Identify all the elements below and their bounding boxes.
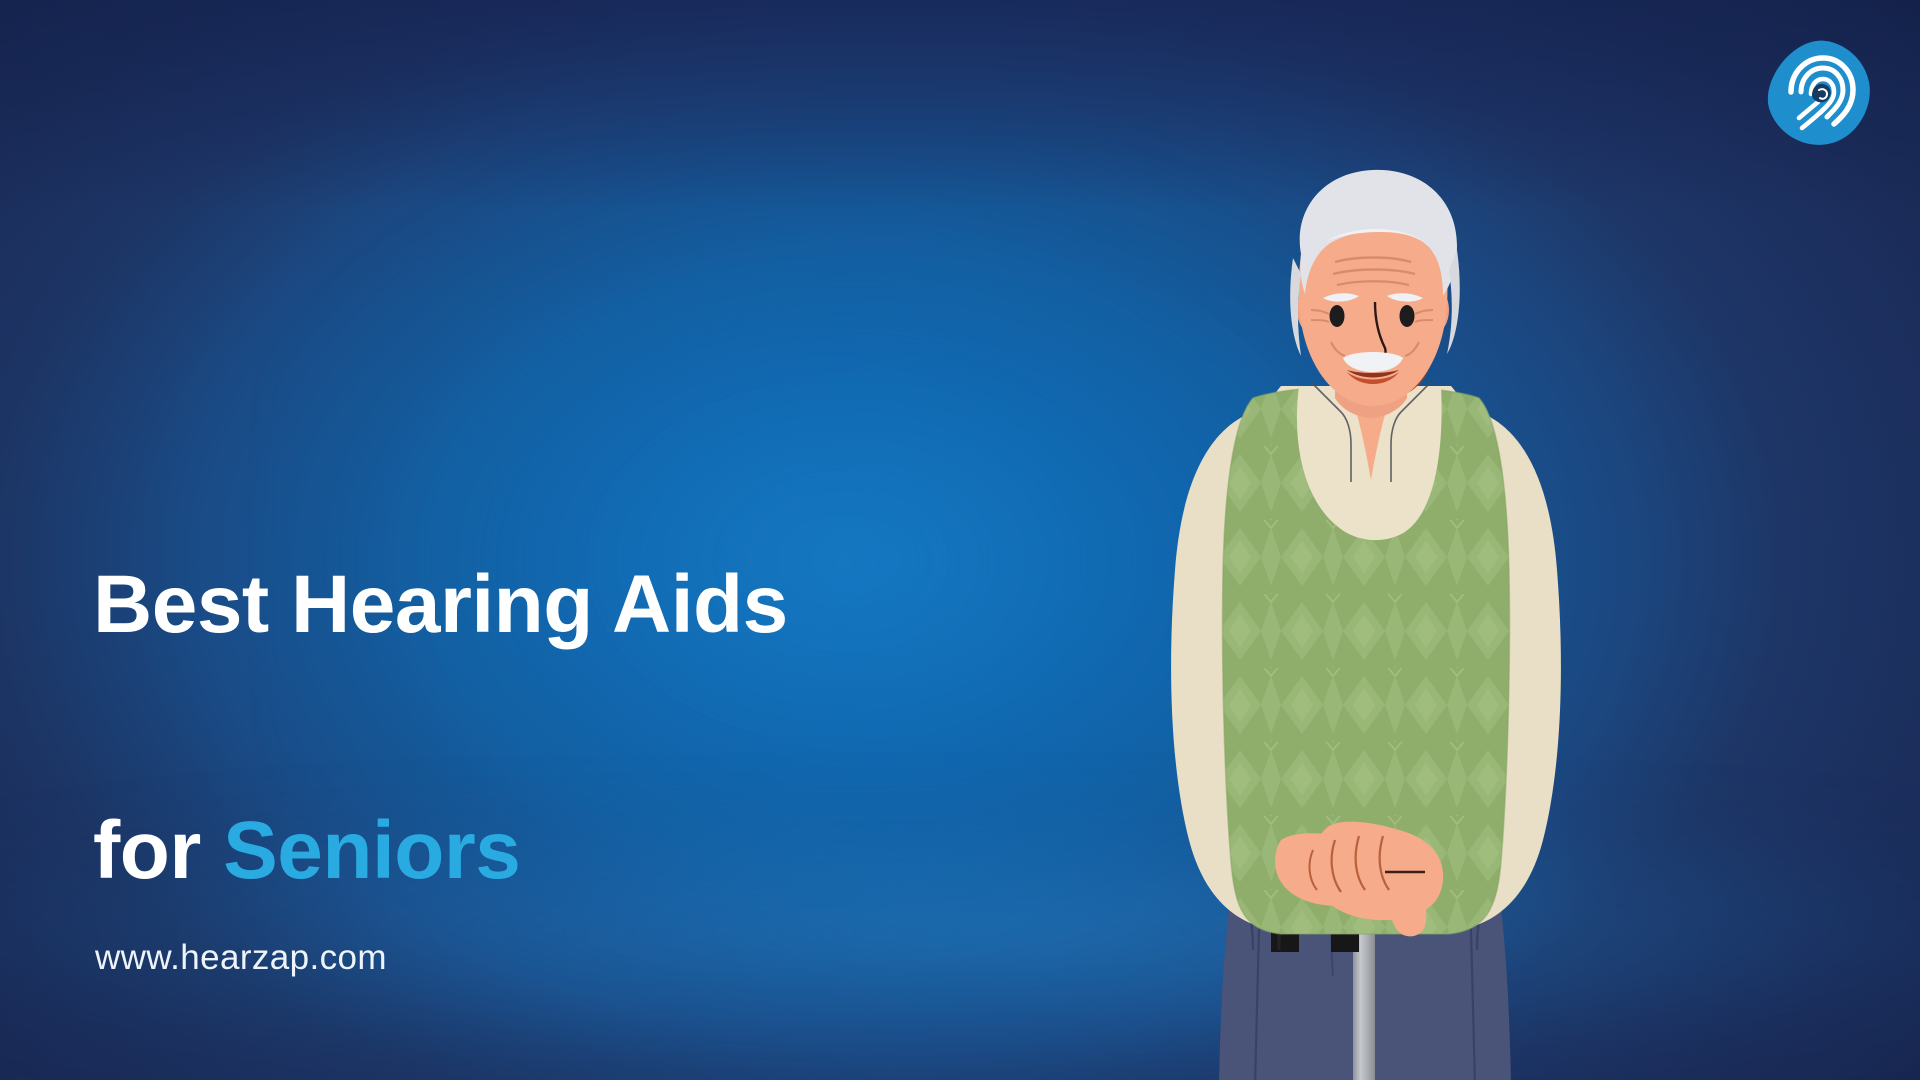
headline-line-2: for Seniors xyxy=(93,789,993,912)
hero-banner: Best Hearing Aids for Seniors www.hearza… xyxy=(0,0,1920,1080)
head xyxy=(1290,170,1460,406)
headline-line-2-plain: for xyxy=(93,805,223,896)
headline-line-2-accent: Seniors xyxy=(223,805,520,896)
headline-line-1: Best Hearing Aids xyxy=(93,543,993,666)
site-url[interactable]: www.hearzap.com xyxy=(95,938,387,978)
senior-man-illustration xyxy=(1085,150,1645,1080)
hearzap-ear-logo[interactable] xyxy=(1764,38,1872,146)
